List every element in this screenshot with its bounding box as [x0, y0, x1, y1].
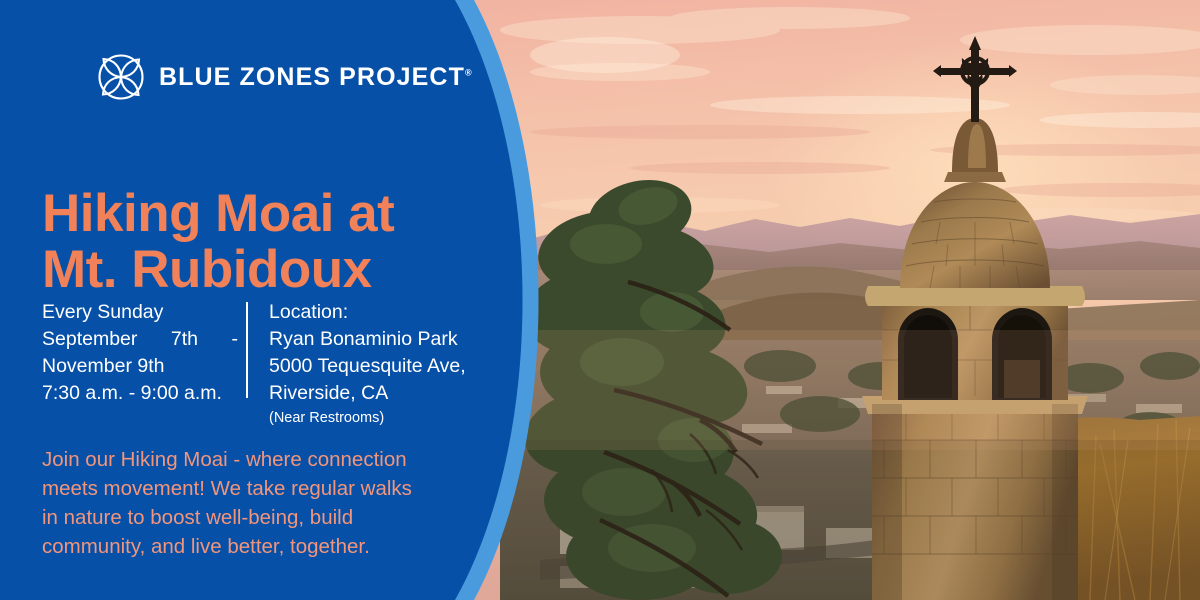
blue-zones-quatrefoil-icon [96, 52, 146, 102]
schedule-start-day: 7th [171, 326, 198, 353]
brand-name-text: BLUE ZONES PROJECT [159, 63, 465, 91]
event-info: Every Sunday September 7th - November 9t… [42, 299, 466, 428]
event-description: Join our Hiking Moai - where connection … [42, 445, 504, 562]
schedule-block: Every Sunday September 7th - November 9t… [42, 299, 242, 407]
schedule-start-month: September [42, 326, 137, 353]
event-banner: BLUE ZONES PROJECT® Hiking Moai at Mt. R… [0, 0, 1200, 600]
schedule-dash: - [232, 326, 239, 353]
schedule-recurrence: Every Sunday [42, 299, 242, 326]
location-street: 5000 Tequesquite Ave, [269, 353, 466, 380]
vertical-divider [246, 302, 248, 398]
location-venue: Ryan Bonaminio Park [269, 326, 466, 353]
brand-name: BLUE ZONES PROJECT® [159, 65, 472, 90]
brand-logo[interactable]: BLUE ZONES PROJECT® [96, 52, 472, 102]
panel-content: BLUE ZONES PROJECT® Hiking Moai at Mt. R… [0, 0, 520, 600]
schedule-end: November 9th [42, 353, 242, 380]
location-heading: Location: [269, 299, 466, 326]
registered-mark: ® [465, 67, 472, 77]
location-note: (Near Restrooms) [269, 408, 466, 428]
schedule-range-line: September 7th - [42, 326, 238, 353]
event-title: Hiking Moai at Mt. Rubidoux [42, 186, 502, 299]
schedule-time: 7:30 a.m. - 9:00 a.m. [42, 380, 242, 407]
location-city-state: Riverside, CA [269, 380, 466, 407]
location-block: Location: Ryan Bonaminio Park 5000 Teque… [269, 299, 466, 428]
